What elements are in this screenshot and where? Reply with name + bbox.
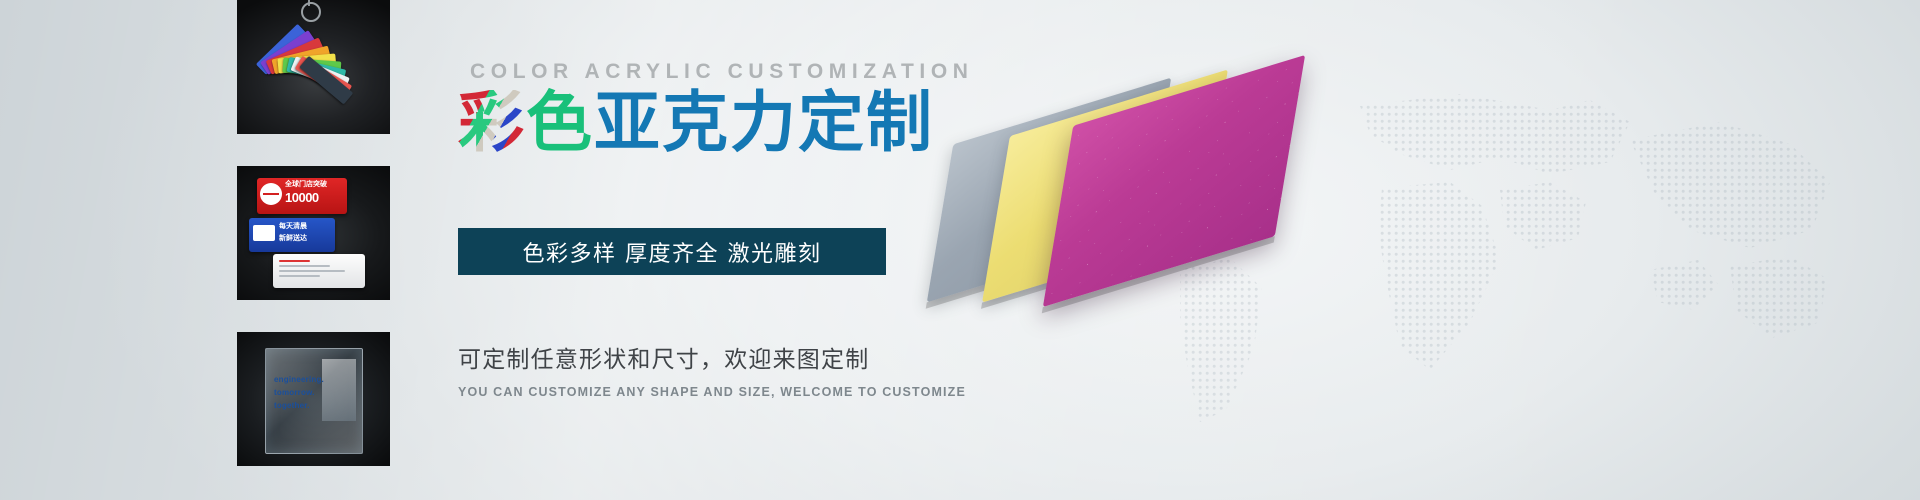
- swatch-chip-fan: [251, 18, 377, 118]
- sign-card-blue: 每天清晨 新鲜送达: [249, 218, 335, 252]
- acrylic-holder-pane: [322, 359, 356, 421]
- truck-icon: [253, 225, 275, 241]
- sign-card-white: [273, 254, 365, 288]
- promo-banner: 全球门店突破 10000 每天清晨 新鲜送达 e: [0, 0, 1920, 500]
- sign-card-red: 全球门店突破 10000: [257, 178, 347, 214]
- sign-card-white-lines: [279, 260, 357, 280]
- thumbnail-strip: 全球门店突破 10000 每天清晨 新鲜送达 e: [237, 0, 390, 500]
- feature-ribbon: 色彩多样 厚度齐全 激光雕刻: [458, 228, 886, 275]
- thumbnail-clear-acrylic-display-holder[interactable]: engineering. tomorrow. together.: [237, 332, 390, 466]
- overline-text: COLOR ACRYLIC CUSTOMIZATION: [470, 60, 978, 84]
- headline-text: 彩色亚克力定制: [458, 90, 978, 156]
- thumbnail-printed-acrylic-signs[interactable]: 全球门店突破 10000 每天清晨 新鲜送达: [237, 166, 390, 300]
- feature-ribbon-text: 色彩多样 厚度齐全 激光雕刻: [523, 236, 822, 268]
- sign-card-red-line1: 全球门店突破: [285, 181, 327, 189]
- headline-block: COLOR ACRYLIC CUSTOMIZATION 彩色亚克力定制: [458, 60, 978, 156]
- tagline-english: YOU CAN CUSTOMIZE ANY SHAPE AND SIZE, WE…: [458, 385, 966, 399]
- headline-char-mosaic: 彩: [458, 90, 526, 156]
- sign-card-blue-line1: 每天清晨: [279, 223, 307, 231]
- sign-card-red-number: 10000: [285, 190, 319, 205]
- headline-char-green: 色: [526, 84, 594, 161]
- headline-chars-blue: 亚克力定制: [594, 84, 934, 161]
- thumbnail-acrylic-color-swatch-fan[interactable]: [237, 0, 390, 134]
- acrylic-sheet-stack: [930, 95, 1350, 345]
- tagline-chinese: 可定制任意形状和尺寸，欢迎来图定制: [458, 340, 869, 374]
- holder-text: engineering. tomorrow. together.: [274, 373, 324, 412]
- acrylic-holder: engineering. tomorrow. together.: [265, 348, 363, 454]
- sign-card-blue-line2: 新鲜送达: [279, 235, 307, 243]
- globe-icon: [260, 183, 282, 205]
